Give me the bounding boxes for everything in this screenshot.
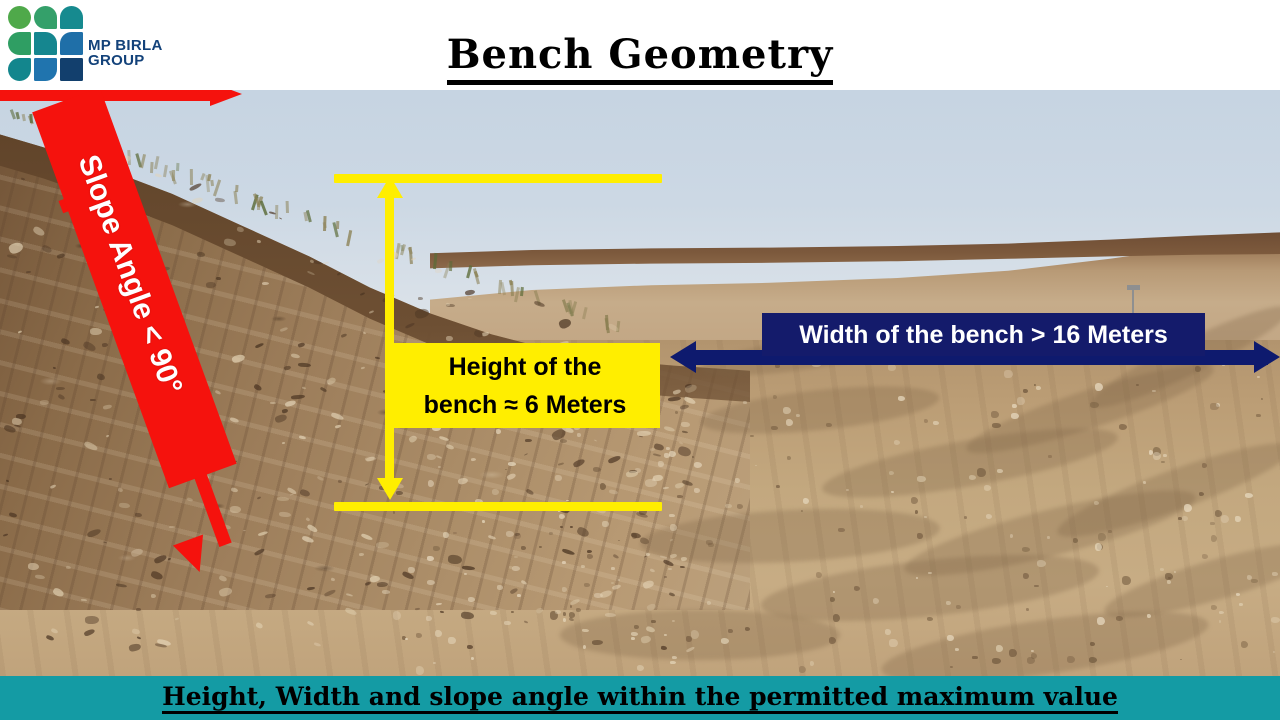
pebble [1009,649,1017,656]
pebble [776,485,780,488]
logo-tile-1 [8,6,31,29]
pebble [773,395,778,399]
page-title-text: Bench Geometry [447,31,834,85]
rock-chip [636,430,650,436]
vegetation-tuft [336,220,339,228]
rock-chip [90,399,96,401]
pebble [549,532,552,535]
pebble [393,611,402,620]
pebble [728,629,733,633]
pebble [675,411,678,413]
rock-chip [587,549,592,552]
pebble [1211,605,1218,610]
pebble [947,635,954,641]
bench-height-arrow-shaft [385,186,394,492]
rock-chip [605,613,616,617]
pebble [1116,616,1123,621]
pebble [1036,386,1041,390]
pebble [584,583,590,587]
pebble [496,429,501,434]
pebble [1108,530,1111,533]
pebble [482,520,485,523]
rock-chip [570,526,573,528]
pebble [924,419,928,422]
bench-height-down-arrowhead-icon [377,478,403,500]
pebble [964,516,967,518]
pebble [583,645,586,648]
pebble [997,469,1002,473]
pebble [924,516,927,517]
pebble [1167,580,1171,583]
pebble [1184,504,1192,512]
pebble [577,433,581,437]
pebble [1261,398,1263,400]
pebble [992,658,1001,664]
pebble [1202,554,1208,559]
pebble [955,648,959,650]
pebble [1271,617,1280,623]
bench-height-up-arrowhead-icon [377,176,403,198]
pebble [1210,403,1218,410]
vegetation-tuft [520,287,524,296]
pebble [521,546,526,550]
rock-chip [56,386,65,389]
pebble [416,666,424,675]
pebble [977,468,985,476]
pebble [1251,579,1258,583]
pebble [854,586,861,591]
vegetation-tuft [285,201,288,213]
rock-chip [467,645,473,649]
pebble [1089,657,1097,663]
logo-tile-2 [34,6,57,29]
pebble [889,639,898,647]
rock-chip [90,328,102,335]
pebble [692,456,695,458]
pebble [707,601,711,605]
rock-chip [663,576,667,578]
pebble [1037,560,1046,567]
rock-chip [611,582,614,584]
pebble [1247,575,1253,580]
pebble [408,567,415,573]
rock-chip [650,447,656,450]
pebble [428,480,435,487]
pebble [826,423,831,427]
rock-chip [102,343,108,347]
pebble [915,510,918,513]
pebble [587,554,593,558]
pebble [602,521,609,527]
pebble [593,467,601,472]
pebble [984,485,991,491]
pebble [559,514,565,519]
pebble [427,556,434,561]
rock-chip [206,282,216,288]
pebble [1034,384,1036,386]
vegetation-tuft [150,162,154,173]
pebble [1211,535,1217,541]
pebble [670,524,677,531]
pebble [721,638,729,644]
pebble [1136,384,1139,386]
pebble [1256,414,1261,417]
pebble [669,514,675,517]
pebble [512,566,520,571]
bench-height-bottom-guide [334,502,662,511]
pebble [786,419,793,425]
pebble [1004,370,1012,378]
pebble [801,510,803,512]
pebble [1160,568,1165,571]
rock-chip [53,367,56,369]
pebble [666,447,670,450]
rock-chip [515,532,520,535]
rock-chip [448,555,462,565]
pebble [787,456,791,459]
pebble [1202,463,1207,468]
bench-width-left-arrowhead-icon [670,341,696,373]
pebble [511,611,513,613]
pebble [799,666,806,673]
bench-height-label-line2: bench ≈ 6 Meters [424,386,627,424]
pebble [917,476,926,483]
pebble [898,396,904,401]
footer-caption: Height, Width and slope angle within the… [162,683,1118,714]
pebble [427,454,436,460]
rock-chip [645,479,657,487]
pebble [750,435,754,437]
pebble [634,625,639,629]
pebble [611,567,615,570]
rock-chip [445,302,450,305]
pebble [891,491,894,493]
slide-canvas: Slope Angle < 90° Height of the bench ≈ … [0,0,1280,720]
rock-chip [646,553,650,556]
pebble [1143,481,1145,483]
pebble [860,505,862,507]
pebble [708,543,714,548]
bench-width-label-box: Width of the bench > 16 Meters [762,313,1205,356]
pebble [631,632,638,636]
pebble [917,533,923,539]
pebble [453,532,457,534]
bench-width-right-arrowhead-icon [1254,341,1280,373]
pebble [833,614,841,622]
pebble [1119,424,1127,430]
pebble [927,617,933,621]
pebble [986,514,993,519]
pebble [1272,572,1278,576]
pebble [691,630,699,638]
rock-chip [681,421,690,427]
pebble [471,657,474,660]
vegetation-tuft [449,261,452,271]
pebble [504,621,511,625]
logo-tile-3 [60,6,83,29]
pebble [1073,538,1078,542]
pebble [1239,603,1242,605]
pebble [1017,397,1025,406]
rock-chip [135,513,142,518]
pebble [885,629,891,635]
pebble [972,656,977,660]
pebble [894,440,901,445]
pebble [426,616,432,621]
bench-height-label-box: Height of the bench ≈ 6 Meters [390,343,660,428]
pebble [1067,656,1075,663]
rock-chip [524,439,531,442]
pebble [672,656,677,659]
pebble [670,661,675,664]
pebble [600,483,606,489]
pebble [1235,516,1241,522]
pebble [1195,366,1201,372]
rock-chip [150,594,155,598]
vegetation-tuft [190,169,193,185]
rock-chip [446,336,453,341]
pebble [946,601,951,605]
pebble [1094,501,1099,504]
pebble [581,565,585,568]
pebble [562,561,565,564]
bench-width-label: Width of the bench > 16 Meters [799,322,1168,348]
pebble [996,645,1003,652]
page-title: Bench Geometry [0,34,1280,76]
rock-chip [5,479,9,482]
vegetation-tuft [176,163,179,171]
pebble [838,528,845,532]
pebble [1221,515,1229,523]
tire-track [560,610,840,660]
pebble [694,488,699,493]
pebble [1090,642,1095,646]
pebble [783,407,791,414]
pebble [686,636,692,642]
rock-chip [359,553,364,556]
rock-chip [277,496,290,500]
pebble [448,637,456,645]
pebble [829,637,837,644]
pebble [1122,576,1131,585]
rock-chip [85,616,99,625]
slide-header: MP BIRLA GROUP Bench Geometry [0,0,1280,90]
pebble [725,504,732,508]
vegetation-tuft [172,170,175,181]
pebble [669,451,676,457]
pebble [539,546,542,548]
rock-chip [514,556,518,558]
pebble [405,638,407,640]
pebble [433,546,439,551]
pebble [1210,522,1215,525]
rock-chip [680,566,685,568]
rock-chip [435,268,443,272]
pebble [1219,611,1224,614]
footer-caption-bar: Height, Width and slope angle within the… [0,676,1280,720]
pebble [1095,543,1103,551]
rock-chip [230,506,241,513]
pebble [1153,452,1161,459]
pebble [771,426,777,430]
bench-height-label-line1: Height of the [449,348,602,386]
pebble [1163,454,1166,457]
pebble [555,475,561,481]
pebble [658,461,664,467]
pebble [393,511,395,514]
pebble [570,605,572,607]
pebble [803,498,809,504]
pebble [992,423,1000,428]
pebble [1048,455,1052,459]
pebble [1023,389,1028,393]
